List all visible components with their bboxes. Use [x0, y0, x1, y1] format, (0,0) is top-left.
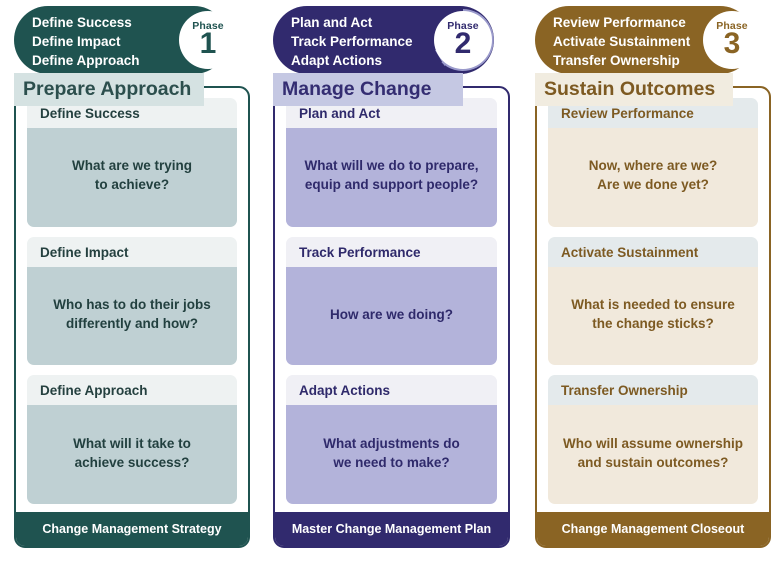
phase-banner-item: Adapt Actions	[291, 52, 413, 69]
activity-card-question: What are we trying to achieve?	[27, 128, 237, 227]
phase-banner-list: Review PerformanceActivate SustainmentTr…	[553, 14, 690, 69]
phase-deliverable-footer: Change Management Strategy	[16, 512, 248, 546]
phase-banner-item: Transfer Ownership	[553, 52, 690, 69]
phase-title: Sustain Outcomes	[535, 78, 715, 101]
activity-card-question: Who has to do their jobs differently and…	[27, 267, 237, 366]
activity-card-heading: Define Impact	[27, 237, 237, 267]
phase-badge-circle: Phase3	[703, 11, 761, 69]
phase-title: Prepare Approach	[14, 78, 191, 101]
phase-banner-item: Activate Sustainment	[553, 33, 690, 50]
activity-card-question: Now, where are we? Are we done yet?	[548, 128, 758, 227]
activity-card: Activate SustainmentWhat is needed to en…	[548, 237, 758, 366]
phase-banner-item: Define Approach	[32, 52, 140, 69]
phase-banner-item: Plan and Act	[291, 14, 413, 31]
activity-card-question: What will we do to prepare, equip and su…	[286, 128, 497, 227]
activity-card: Adapt ActionsWhat adjustments do we need…	[286, 375, 497, 504]
phase-card-list: Define SuccessWhat are we trying to achi…	[16, 88, 248, 512]
phase-badge: Phase2	[429, 6, 497, 74]
activity-card-question: How are we doing?	[286, 267, 497, 366]
activity-card: Transfer OwnershipWho will assume owners…	[548, 375, 758, 504]
phase-badge: Phase1	[174, 6, 242, 74]
phase-card-container: Plan and ActWhat will we do to prepare, …	[273, 86, 510, 548]
phase-banner-item: Track Performance	[291, 33, 413, 50]
activity-card-question: What adjustments do we need to make?	[286, 405, 497, 504]
phase-card-container: Review PerformanceNow, where are we? Are…	[535, 86, 771, 548]
phase-title-band: Sustain Outcomes	[535, 73, 733, 106]
phase-badge-number: 1	[200, 29, 217, 59]
phase-title-band: Manage Change	[273, 73, 463, 106]
activity-card-question: What is needed to ensure the change stic…	[548, 267, 758, 366]
phase-column-1: Define SuccessDefine ImpactDefine Approa…	[0, 0, 264, 564]
phase-deliverable-footer: Master Change Management Plan	[275, 512, 508, 546]
activity-card: Define ApproachWhat will it take to achi…	[27, 375, 237, 504]
activity-card: Review PerformanceNow, where are we? Are…	[548, 98, 758, 227]
phase-banner-item: Define Success	[32, 14, 140, 31]
activity-card-question: What will it take to achieve success?	[27, 405, 237, 504]
activity-card: Define SuccessWhat are we trying to achi…	[27, 98, 237, 227]
phase-card-list: Review PerformanceNow, where are we? Are…	[537, 88, 769, 512]
activity-card-heading: Activate Sustainment	[548, 237, 758, 267]
phase-banner-item: Define Impact	[32, 33, 140, 50]
activity-card-heading: Transfer Ownership	[548, 375, 758, 405]
activity-card-heading: Adapt Actions	[286, 375, 497, 405]
activity-card-question: Who will assume ownership and sustain ou…	[548, 405, 758, 504]
phase-badge-circle: Phase1	[179, 11, 237, 69]
activity-card-heading: Define Approach	[27, 375, 237, 405]
phase-deliverable-footer: Change Management Closeout	[537, 512, 769, 546]
phase-title-band: Prepare Approach	[14, 73, 204, 106]
activity-card: Plan and ActWhat will we do to prepare, …	[286, 98, 497, 227]
phase-banner-item: Review Performance	[553, 14, 690, 31]
phase-title: Manage Change	[273, 78, 432, 101]
change-management-framework-diagram: Define SuccessDefine ImpactDefine Approa…	[0, 0, 784, 564]
activity-card: Track PerformanceHow are we doing?	[286, 237, 497, 366]
phase-banner-list: Define SuccessDefine ImpactDefine Approa…	[32, 14, 140, 69]
phase-card-list: Plan and ActWhat will we do to prepare, …	[275, 88, 508, 512]
phase-badge-number: 2	[455, 29, 472, 59]
phase-badge-number: 3	[724, 29, 741, 59]
phase-column-3: Review PerformanceActivate SustainmentTr…	[522, 0, 784, 564]
phase-badge: Phase3	[698, 6, 766, 74]
phase-column-2: Plan and ActTrack PerformanceAdapt Actio…	[264, 0, 522, 564]
activity-card-heading: Track Performance	[286, 237, 497, 267]
activity-card: Define ImpactWho has to do their jobs di…	[27, 237, 237, 366]
phase-badge-circle: Phase2	[434, 11, 492, 69]
phase-card-container: Define SuccessWhat are we trying to achi…	[14, 86, 250, 548]
phase-banner-list: Plan and ActTrack PerformanceAdapt Actio…	[291, 14, 413, 69]
